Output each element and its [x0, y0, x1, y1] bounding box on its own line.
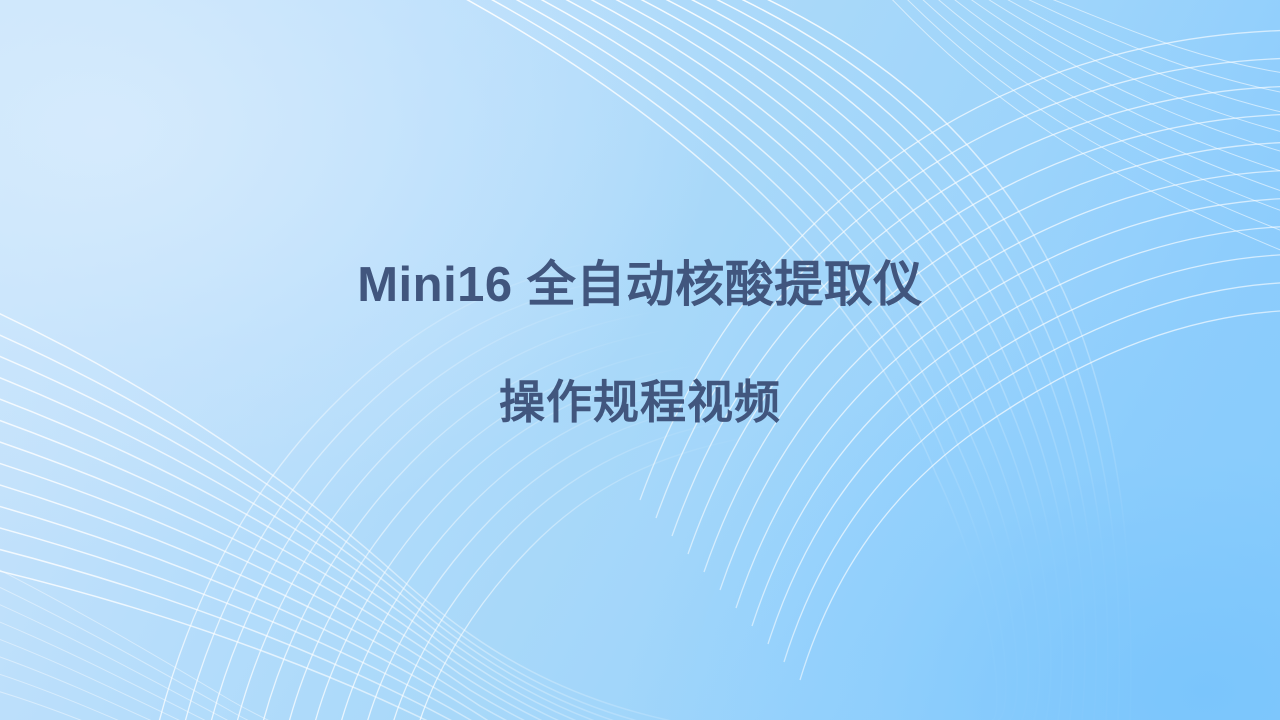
title-block: Mini16 全自动核酸提取仪 操作规程视频 — [0, 0, 1280, 720]
page-title: Mini16 全自动核酸提取仪 — [357, 257, 923, 313]
presentation-slide: Mini16 全自动核酸提取仪 操作规程视频 — [0, 0, 1280, 720]
page-subtitle: 操作规程视频 — [499, 376, 781, 429]
